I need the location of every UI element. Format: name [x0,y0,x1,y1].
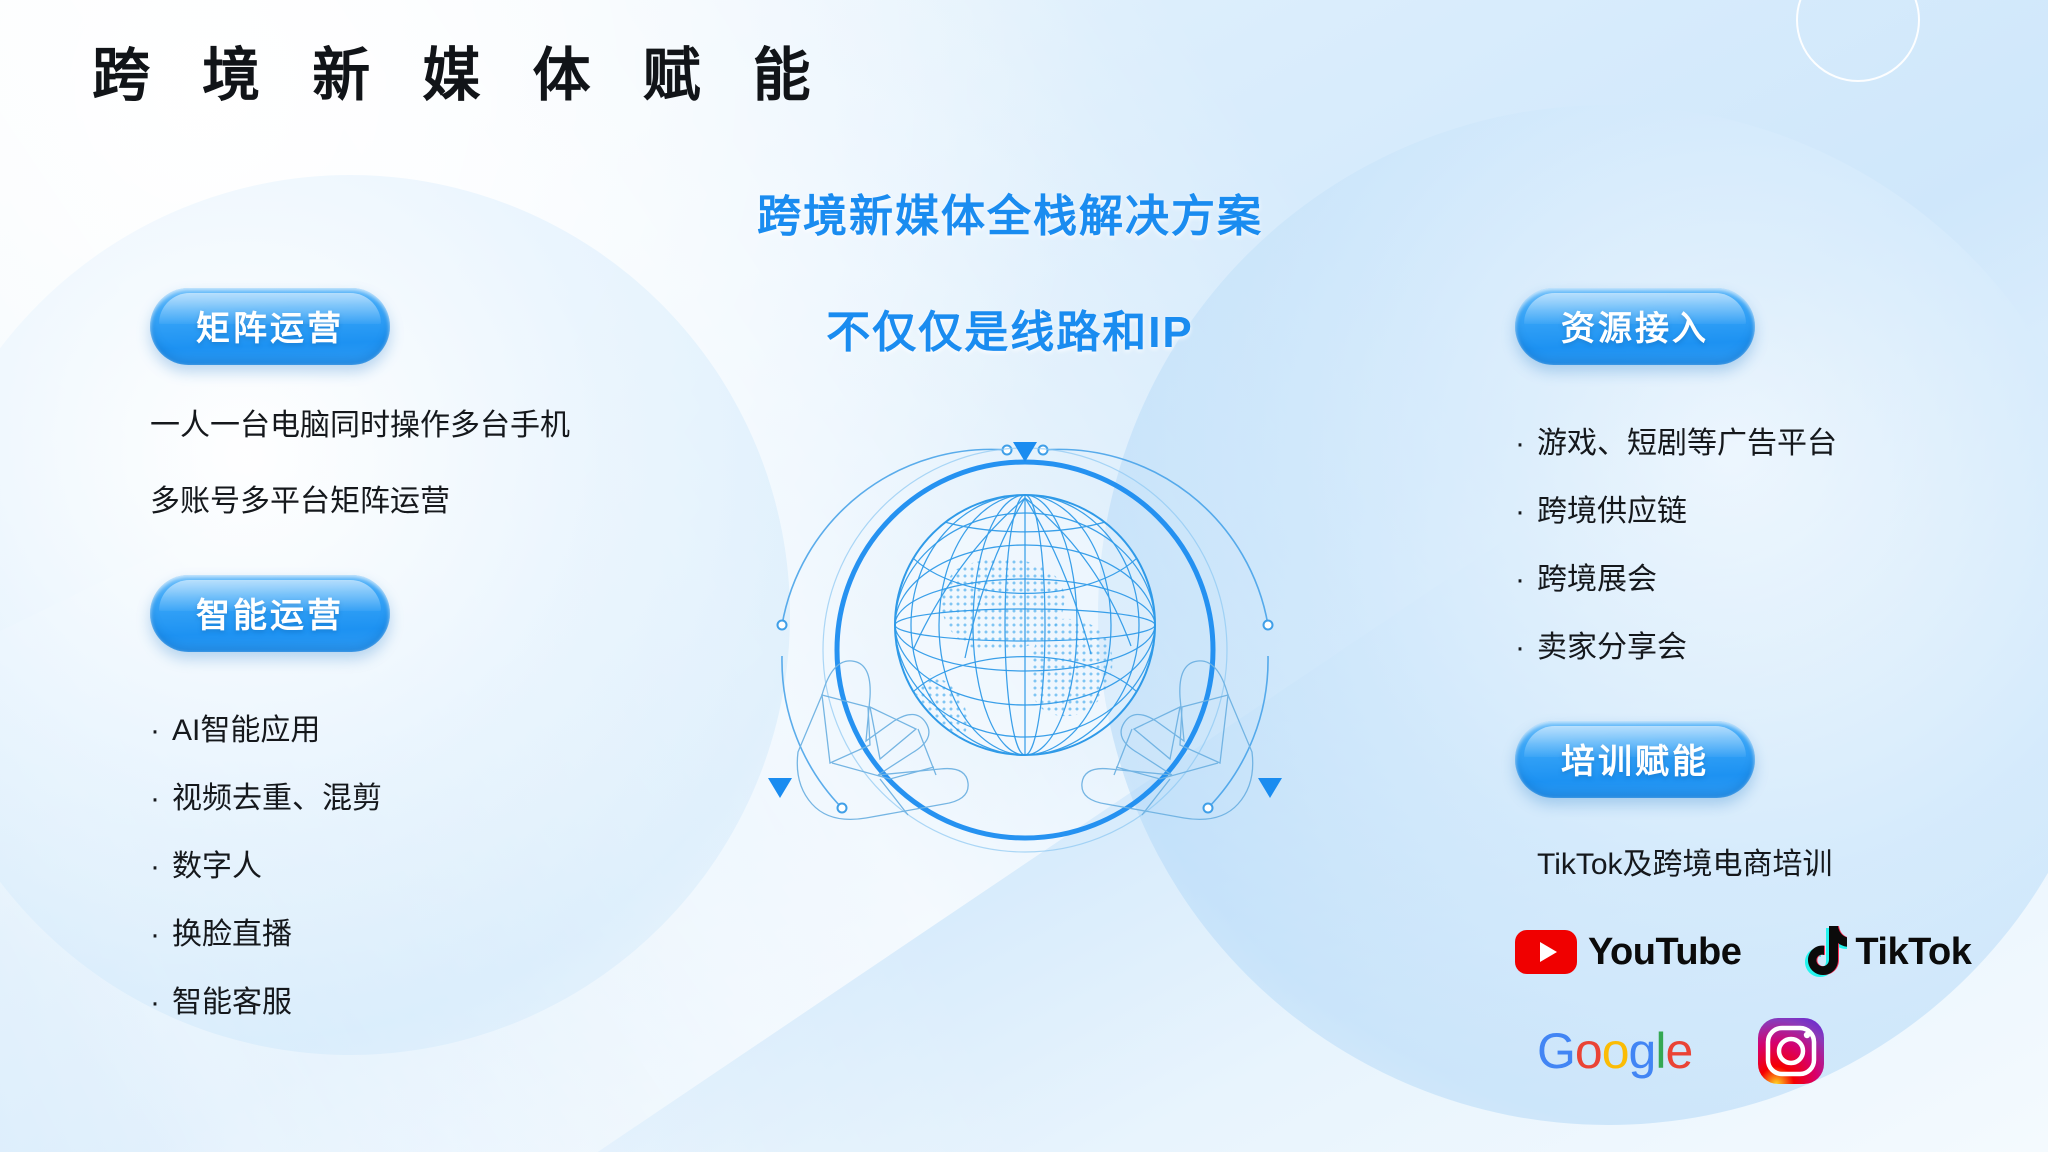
youtube-label: YouTube [1588,931,1741,974]
left-bullet-item: ·AI智能应用 [150,716,710,746]
google-letter-o1: o [1575,1026,1602,1076]
logo-row-secondary: Google [1515,1016,2035,1086]
right-bullet-label: 跨境供应链 [1537,495,1687,528]
right-bullet-item: ·跨境供应链 [1515,497,2035,527]
triangle-marker-top [1013,442,1037,462]
bullet-dot-icon: · [150,988,160,1018]
pill-smart-operations[interactable]: 智能运营 [150,575,710,652]
right-section2-line-1: TikTok及跨境电商培训 [1515,850,2035,880]
headline-line-1: 跨境新媒体全栈解决方案 [640,180,1380,244]
pill-resource-access[interactable]: 资源接入 [1515,288,2035,365]
google-letter-o2: o [1602,1026,1629,1076]
globe-in-hands-illustration [760,420,1290,890]
spacer [150,652,710,678]
google-letter-l: l [1655,1026,1665,1076]
pill-matrix-operations[interactable]: 矩阵运营 [150,288,710,365]
bullet-dot-icon: · [1515,565,1525,595]
triangle-marker-left [768,778,792,798]
right-column: 资源接入 ·游戏、短剧等广告平台 ·跨境供应链 ·跨境展会 ·卖家分享会 培训赋… [1515,288,2035,1086]
page-title: 跨 境 新 媒 体 赋 能 [92,44,829,108]
left-bullet-item: ·数字人 [150,852,710,882]
tiktok-note-icon [1799,926,1847,978]
google-logo[interactable]: Google [1537,1026,1692,1076]
spacer [1515,365,2035,391]
right-bullet-item: ·游戏、短剧等广告平台 [1515,429,2035,459]
globe-svg [760,420,1290,890]
left-bullet-item: ·视频去重、混剪 [150,784,710,814]
tiktok-logo[interactable]: TikTok [1799,926,1971,978]
pill-training-empowerment[interactable]: 培训赋能 [1515,721,2035,798]
pill-smart-operations-label: 智能运营 [150,575,390,652]
left-section1-line-2: 多账号多平台矩阵运营 [150,487,710,517]
bullet-dot-icon: · [1515,633,1525,663]
bullet-dot-icon: · [1515,497,1525,527]
headline-line-2: 不仅仅是线路和IP [640,296,1380,360]
triangle-marker-right [1258,778,1282,798]
left-bullet-label: 智能客服 [172,986,292,1019]
bullet-dot-icon: · [150,920,160,950]
bullet-dot-icon: · [150,784,160,814]
headline-block: 跨境新媒体全栈解决方案 不仅仅是线路和IP [640,180,1380,360]
logo-row-primary: YouTube TikTok [1515,926,2035,978]
tiktok-label: TikTok [1855,931,1971,974]
left-bullet-label: 数字人 [172,850,262,883]
spacer [150,517,710,575]
right-bullet-label: 跨境展会 [1537,563,1657,596]
spacer [1515,663,2035,721]
right-bullet-label: 卖家分享会 [1537,631,1687,664]
bullet-dot-icon: · [1515,429,1525,459]
slide-root: 跨 境 新 媒 体 赋 能 跨境新媒体全栈解决方案 不仅仅是线路和IP [0,0,2048,1152]
instagram-logo[interactable] [1756,1016,1826,1086]
pill-matrix-operations-label: 矩阵运营 [150,288,390,365]
youtube-logo[interactable]: YouTube [1515,930,1741,974]
pill-training-empowerment-label: 培训赋能 [1515,721,1755,798]
left-bullet-label: AI智能应用 [172,714,320,747]
right-bullet-label: 游戏、短剧等广告平台 [1537,427,1837,460]
left-bullet-label: 换脸直播 [172,918,292,951]
left-bullet-item: ·智能客服 [150,988,710,1018]
left-column: 矩阵运营 一人一台电脑同时操作多台手机 多账号多平台矩阵运营 智能运营 ·AI智… [150,288,710,1018]
pill-resource-access-label: 资源接入 [1515,288,1755,365]
bullet-dot-icon: · [150,716,160,746]
right-bullet-item: ·跨境展会 [1515,565,2035,595]
google-letter-g2: g [1629,1026,1656,1076]
left-bullet-item: ·换脸直播 [150,920,710,950]
bullet-dot-icon: · [150,852,160,882]
youtube-play-icon [1515,930,1577,974]
right-bullet-item: ·卖家分享会 [1515,633,2035,663]
left-bullet-label: 视频去重、混剪 [172,782,382,815]
instagram-camera-icon [1756,1016,1826,1086]
globe-wireframe [895,495,1155,755]
google-letter-e: e [1665,1026,1692,1076]
google-letter-g1: G [1537,1026,1575,1076]
decorative-ring-top-right [1796,0,1920,82]
left-section1-line-1: 一人一台电脑同时操作多台手机 [150,411,710,441]
